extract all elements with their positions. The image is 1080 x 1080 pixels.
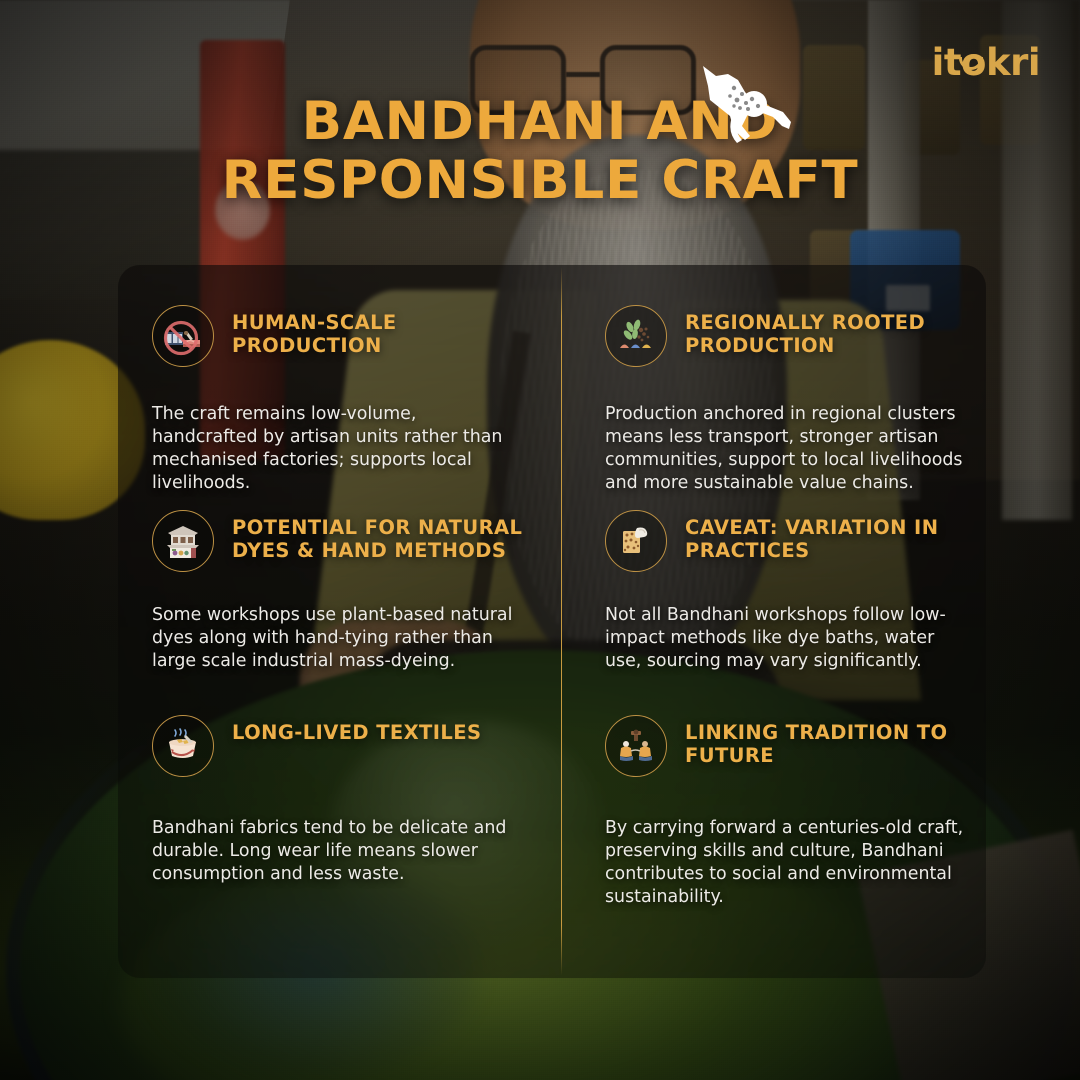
card-human-scale-production: HUMAN-SCALE PRODUCTION The craft remains… [118,265,561,470]
card-title: CAVEAT: VARIATION IN PRACTICES [685,516,964,562]
card-regionally-rooted-production: REGIONALLY ROOTED PRODUCTION Production … [561,265,986,470]
infographic-poster: itokri BANDHANI AND RESPONSIBLE CRAFT [0,0,1080,1080]
natural-dye-plants-icon [605,305,667,367]
card-body: Not all Bandhani workshops follow low-im… [605,604,964,673]
card-long-lived-textiles: LONG-LIVED TEXTILES Bandhani fabrics ten… [118,675,561,978]
card-title: POTENTIAL FOR NATURAL DYES & HAND METHOD… [232,516,527,562]
title-line-1: BANDHANI AND [302,91,779,152]
card-title: LINKING TRADITION TO FUTURE [685,721,964,767]
no-factory-icon [152,305,214,367]
card-body: By carrying forward a centuries-old craf… [605,817,964,910]
two-artisans-weaving-icon [605,715,667,777]
card-title: LONG-LIVED TEXTILES [232,721,481,744]
page-title: BANDHANI AND RESPONSIBLE CRAFT [0,92,1080,211]
card-title: HUMAN-SCALE PRODUCTION [232,311,527,357]
content-panel: HUMAN-SCALE PRODUCTION The craft remains… [118,265,986,978]
brand-logo-text: itokri [932,41,1040,84]
artisan-workshop-building-icon [152,510,214,572]
card-caveat-variation: CAVEAT: VARIATION IN PRACTICES Not all B… [561,470,986,675]
card-linking-tradition-future: LINKING TRADITION TO FUTURE By carrying … [561,675,986,978]
dye-pot-recycle-icon [152,715,214,777]
card-body: Bandhani fabrics tend to be delicate and… [152,817,527,886]
card-title: REGIONALLY ROOTED PRODUCTION [685,311,964,357]
card-body: Some workshops use plant-based natural d… [152,604,527,673]
card-potential-natural-dyes: POTENTIAL FOR NATURAL DYES & HAND METHOD… [118,470,561,675]
title-line-2: RESPONSIBLE CRAFT [222,150,859,211]
brand-logo-itokri[interactable]: itokri [932,44,1040,81]
hand-holding-bandhani-cloth-icon [605,510,667,572]
